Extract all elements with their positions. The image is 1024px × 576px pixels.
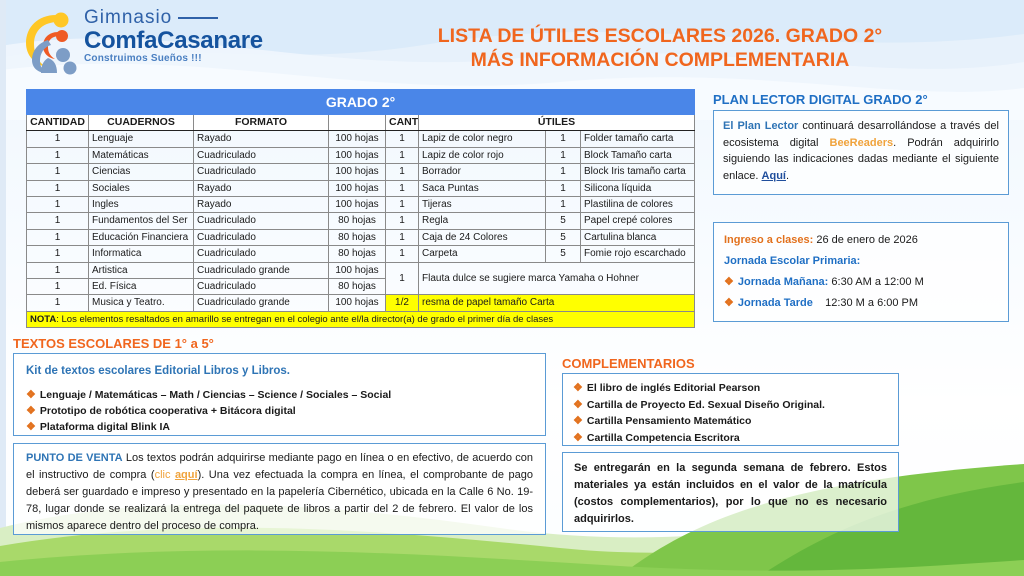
- plan-lector-emphasis: El Plan Lector: [723, 120, 798, 132]
- page-title-line1: LISTA DE ÚTILES ESCOLARES 2026. GRADO 2°: [330, 24, 990, 48]
- logo-rule: [178, 17, 218, 19]
- table-column-header: ÚTILES: [419, 115, 695, 131]
- textos-list-item: ❖Plataforma digital Blink IA: [26, 419, 533, 435]
- cell-cuaderno: Matemáticas: [89, 147, 194, 163]
- logo-line-comfacasanare: ComfaCasanare: [84, 28, 274, 53]
- cell-cant-2: 5: [546, 213, 581, 229]
- textos-escolares-panel: Kit de textos escolares Editorial Libros…: [13, 353, 546, 436]
- table-note-cell: NOTA: Los elementos resaltados en amaril…: [27, 311, 695, 327]
- diamond-bullet-icon: ❖: [573, 432, 583, 444]
- complementarios-note: Se entregarán en la segunda semana de fe…: [574, 460, 887, 528]
- complementarios-list-item-label: El libro de inglés Editorial Pearson: [587, 382, 760, 394]
- cell-cantidad: 1: [27, 279, 89, 295]
- table-row: 1ArtisticaCuadriculado grande100 hojas1F…: [27, 262, 695, 278]
- cell-cant: 1: [386, 229, 419, 245]
- cell-cant-2: 1: [546, 147, 581, 163]
- cell-formato: Cuadriculado grande: [194, 262, 329, 278]
- punto-venta-panel: PUNTO DE VENTA Los textos podrán adquiri…: [13, 443, 546, 535]
- cell-util: Lapiz de color rojo: [419, 147, 546, 163]
- cell-util: Caja de 24 Colores: [419, 229, 546, 245]
- cell-util-2: Cartulina blanca: [581, 229, 695, 245]
- cell-formato: Rayado: [194, 197, 329, 213]
- cell-hojas: 100 hojas: [329, 295, 386, 311]
- cell-hojas: 100 hojas: [329, 147, 386, 163]
- complementarios-list-item: ❖El libro de inglés Editorial Pearson: [573, 380, 888, 397]
- textos-escolares-title: TEXTOS ESCOLARES DE 1° a 5°: [13, 336, 214, 352]
- plan-lector-period: .: [786, 170, 789, 182]
- punto-venta-clic: clic: [155, 469, 175, 481]
- cell-cant: 1: [386, 213, 419, 229]
- cell-cant-2: 1: [546, 131, 581, 147]
- table-column-header: FORMATO: [194, 115, 329, 131]
- cell-cant: 1/2: [386, 295, 419, 311]
- cell-cantidad: 1: [27, 131, 89, 147]
- diamond-bullet-icon: ❖: [26, 389, 36, 401]
- cell-hojas: 100 hojas: [329, 131, 386, 147]
- table-note-label: NOTA: [30, 314, 56, 325]
- complementarios-list-item: ❖Cartilla Pensamiento Matemático: [573, 413, 888, 430]
- complementarios-list-item-label: Cartilla Competencia Escritora: [587, 432, 740, 444]
- beereaders-brand: BeeReaders: [830, 137, 894, 149]
- cell-cant-2: 5: [546, 229, 581, 245]
- schedule-panel: Ingreso a clases: 26 de enero de 2026 Jo…: [713, 222, 1009, 322]
- table-column-header: [329, 115, 386, 131]
- textos-list-item-label: Prototipo de robótica cooperativa + Bitá…: [40, 405, 296, 417]
- cell-util: Tijeras: [419, 197, 546, 213]
- complementarios-panel: ❖El libro de inglés Editorial Pearson❖Ca…: [562, 373, 899, 446]
- table-banner-row: GRADO 2°: [27, 90, 695, 115]
- diamond-bullet-icon: ❖: [573, 399, 583, 411]
- cell-hojas: 100 hojas: [329, 164, 386, 180]
- cell-util-2: Papel crepé colores: [581, 213, 695, 229]
- jornada-manana-label: Jornada Mañana:: [738, 276, 828, 288]
- cell-cantidad: 1: [27, 164, 89, 180]
- diamond-bullet-icon: ❖: [724, 297, 734, 309]
- slide-canvas: Gimnasio ComfaCasanare Construimos Sueño…: [0, 0, 1024, 576]
- cell-cuaderno: Ingles: [89, 197, 194, 213]
- school-logo: Gimnasio ComfaCasanare Construimos Sueño…: [18, 6, 268, 82]
- table-row: 1Educación FinancieraCuadriculado80 hoja…: [27, 229, 695, 245]
- cell-util: Borrador: [419, 164, 546, 180]
- cell-cant-2: 1: [546, 180, 581, 196]
- cell-cantidad: 1: [27, 197, 89, 213]
- diamond-bullet-icon: ❖: [573, 382, 583, 394]
- cell-cantidad: 1: [27, 213, 89, 229]
- cell-cuaderno: Artistica: [89, 262, 194, 278]
- textos-list-item: ❖Prototipo de robótica cooperativa + Bit…: [26, 403, 533, 419]
- plan-lector-link[interactable]: Aquí: [762, 170, 786, 182]
- cell-cant: 1: [386, 164, 419, 180]
- table-row: 1Fundamentos del SerCuadriculado80 hojas…: [27, 213, 695, 229]
- cell-cant: 1: [386, 147, 419, 163]
- cell-formato: Cuadriculado: [194, 229, 329, 245]
- cell-cant: 1: [386, 131, 419, 147]
- table-column-header: CUADERNOS: [89, 115, 194, 131]
- cell-hojas: 100 hojas: [329, 262, 386, 278]
- textos-item-list: ❖Lenguaje / Matemáticas – Math / Ciencia…: [26, 387, 533, 435]
- cell-cuaderno: Ed. Física: [89, 279, 194, 295]
- cell-util-2: Silicona líquida: [581, 180, 695, 196]
- cell-formato: Cuadriculado: [194, 164, 329, 180]
- punto-venta-text: PUNTO DE VENTA Los textos podrán adquiri…: [26, 450, 533, 535]
- table-note-row: NOTA: Los elementos resaltados en amaril…: [27, 311, 695, 327]
- jornada-title: Jornada Escolar Primaria:: [724, 251, 998, 272]
- page-header: Gimnasio ComfaCasanare Construimos Sueño…: [0, 0, 1024, 88]
- cell-cant: 1: [386, 197, 419, 213]
- table-banner: GRADO 2°: [27, 90, 695, 115]
- cell-cant-2: 1: [546, 164, 581, 180]
- table-header-row: CANTIDADCUADERNOSFORMATOCANTÚTILES: [27, 115, 695, 131]
- cell-cuaderno: Lenguaje: [89, 131, 194, 147]
- textos-list-item-label: Lenguaje / Matemáticas – Math / Ciencias…: [40, 389, 391, 401]
- cell-cuaderno: Ciencias: [89, 164, 194, 180]
- complementarios-list-item: ❖Cartilla de Proyecto Ed. Sexual Diseño …: [573, 397, 888, 414]
- table-row: 1MatemáticasCuadriculado100 hojas1Lapiz …: [27, 147, 695, 163]
- table-row: 1CienciasCuadriculado100 hojas1Borrador1…: [27, 164, 695, 180]
- cell-hojas: 80 hojas: [329, 279, 386, 295]
- table-column-header: CANT: [386, 115, 419, 131]
- ingreso-row: Ingreso a clases: 26 de enero de 2026: [724, 230, 998, 251]
- textos-list-item: ❖Lenguaje / Matemáticas – Math / Ciencia…: [26, 387, 533, 403]
- cell-util-2: Block Iris tamaño carta: [581, 164, 695, 180]
- cell-cantidad: 1: [27, 295, 89, 311]
- cell-formato: Cuadriculado: [194, 246, 329, 262]
- cell-cant: 1: [386, 262, 419, 295]
- cell-formato: Rayado: [194, 131, 329, 147]
- cell-hojas: 100 hojas: [329, 197, 386, 213]
- table-row: 1InglesRayado100 hojas1Tijeras1Plastilin…: [27, 197, 695, 213]
- cell-util-2: Block Tamaño carta: [581, 147, 695, 163]
- punto-venta-label: PUNTO DE VENTA: [26, 452, 123, 464]
- supplies-table: GRADO 2°CANTIDADCUADERNOSFORMATOCANTÚTIL…: [26, 89, 695, 328]
- plan-lector-panel: El Plan Lector continuará desarrollándos…: [713, 110, 1009, 195]
- cell-cant-2: 5: [546, 246, 581, 262]
- table-row: 1InformaticaCuadriculado80 hojas1Carpeta…: [27, 246, 695, 262]
- cell-cantidad: 1: [27, 229, 89, 245]
- cell-hojas: 80 hojas: [329, 229, 386, 245]
- cell-util-2: Fomie rojo escarchado: [581, 246, 695, 262]
- cell-util: Lapiz de color negro: [419, 131, 546, 147]
- cell-cant-2: 1: [546, 197, 581, 213]
- cell-cant: 1: [386, 180, 419, 196]
- textos-list-item-label: Plataforma digital Blink IA: [40, 421, 170, 433]
- table-row: 1Musica y Teatro.Cuadriculado grande100 …: [27, 295, 695, 311]
- cell-util: Carpeta: [419, 246, 546, 262]
- logo-tagline: Construimos Sueños !!!: [84, 53, 274, 65]
- complementarios-title: COMPLEMENTARIOS: [562, 356, 695, 372]
- jornada-title-text: Jornada Escolar Primaria:: [724, 255, 860, 267]
- cell-cantidad: 1: [27, 246, 89, 262]
- cell-formato: Cuadriculado: [194, 213, 329, 229]
- cell-cantidad: 1: [27, 180, 89, 196]
- ingreso-label: Ingreso a clases:: [724, 234, 813, 246]
- cell-cuaderno: Informatica: [89, 246, 194, 262]
- cell-util-2: Folder tamaño carta: [581, 131, 695, 147]
- cell-util: Regla: [419, 213, 546, 229]
- logo-wordmark: Gimnasio ComfaCasanare Construimos Sueño…: [84, 8, 274, 65]
- logo-line-gimnasio: Gimnasio: [84, 8, 274, 28]
- diamond-bullet-icon: ❖: [26, 405, 36, 417]
- complementarios-note-panel: Se entregarán en la segunda semana de fe…: [562, 452, 899, 532]
- table-column-header: CANTIDAD: [27, 115, 89, 131]
- cell-formato: Rayado: [194, 180, 329, 196]
- supplies-table-wrapper: GRADO 2°CANTIDADCUADERNOSFORMATOCANTÚTIL…: [26, 89, 694, 328]
- jornada-manana-row: ❖Jornada Mañana: 6:30 AM a 12:00 M: [724, 272, 998, 293]
- complementarios-list-item-label: Cartilla de Proyecto Ed. Sexual Diseño O…: [587, 399, 825, 411]
- cell-hojas: 100 hojas: [329, 180, 386, 196]
- diamond-bullet-icon: ❖: [573, 415, 583, 427]
- cell-util: Saca Puntas: [419, 180, 546, 196]
- cell-util: Flauta dulce se sugiere marca Yamaha o H…: [419, 262, 695, 295]
- cell-hojas: 80 hojas: [329, 213, 386, 229]
- cell-cuaderno: Educación Financiera: [89, 229, 194, 245]
- complementarios-list-item: ❖Cartilla Competencia Escritora: [573, 430, 888, 447]
- jornada-tarde-label: Jornada Tarde: [738, 297, 813, 309]
- jornada-tarde-row: ❖Jornada Tarde 12:30 M a 6:00 PM: [724, 293, 998, 314]
- cell-formato: Cuadriculado: [194, 279, 329, 295]
- cell-hojas: 80 hojas: [329, 246, 386, 262]
- page-title: LISTA DE ÚTILES ESCOLARES 2026. GRADO 2°…: [330, 24, 990, 72]
- cell-cantidad: 1: [27, 147, 89, 163]
- plan-lector-text: El Plan Lector continuará desarrollándos…: [723, 118, 999, 184]
- comfacasanare-logo-icon: [18, 10, 84, 76]
- page-title-line2: MÁS INFORMACIÓN COMPLEMENTARIA: [330, 48, 990, 72]
- complementarios-list-item-label: Cartilla Pensamiento Matemático: [587, 415, 752, 427]
- textos-lead: Kit de textos escolares Editorial Libros…: [26, 362, 533, 380]
- ingreso-value: 26 de enero de 2026: [813, 234, 918, 246]
- punto-venta-link[interactable]: aquí: [175, 469, 198, 481]
- table-row: 1SocialesRayado100 hojas1Saca Puntas1Sil…: [27, 180, 695, 196]
- jornada-manana-value: 6:30 AM a 12:00 M: [828, 276, 923, 288]
- diamond-bullet-icon: ❖: [724, 276, 734, 288]
- complementarios-item-list: ❖El libro de inglés Editorial Pearson❖Ca…: [573, 380, 888, 446]
- table-row: 1LenguajeRayado100 hojas1Lapiz de color …: [27, 131, 695, 147]
- cell-cuaderno: Musica y Teatro.: [89, 295, 194, 311]
- cell-util-2: Plastilina de colores: [581, 197, 695, 213]
- jornada-tarde-value: 12:30 M a 6:00 PM: [813, 297, 918, 309]
- plan-lector-title: PLAN LECTOR DIGITAL GRADO 2°: [713, 92, 928, 108]
- cell-util: resma de papel tamaño Carta: [419, 295, 695, 311]
- cell-cant: 1: [386, 246, 419, 262]
- cell-cuaderno: Sociales: [89, 180, 194, 196]
- cell-formato: Cuadriculado grande: [194, 295, 329, 311]
- cell-formato: Cuadriculado: [194, 147, 329, 163]
- cell-cantidad: 1: [27, 262, 89, 278]
- cell-cuaderno: Fundamentos del Ser: [89, 213, 194, 229]
- diamond-bullet-icon: ❖: [26, 421, 36, 433]
